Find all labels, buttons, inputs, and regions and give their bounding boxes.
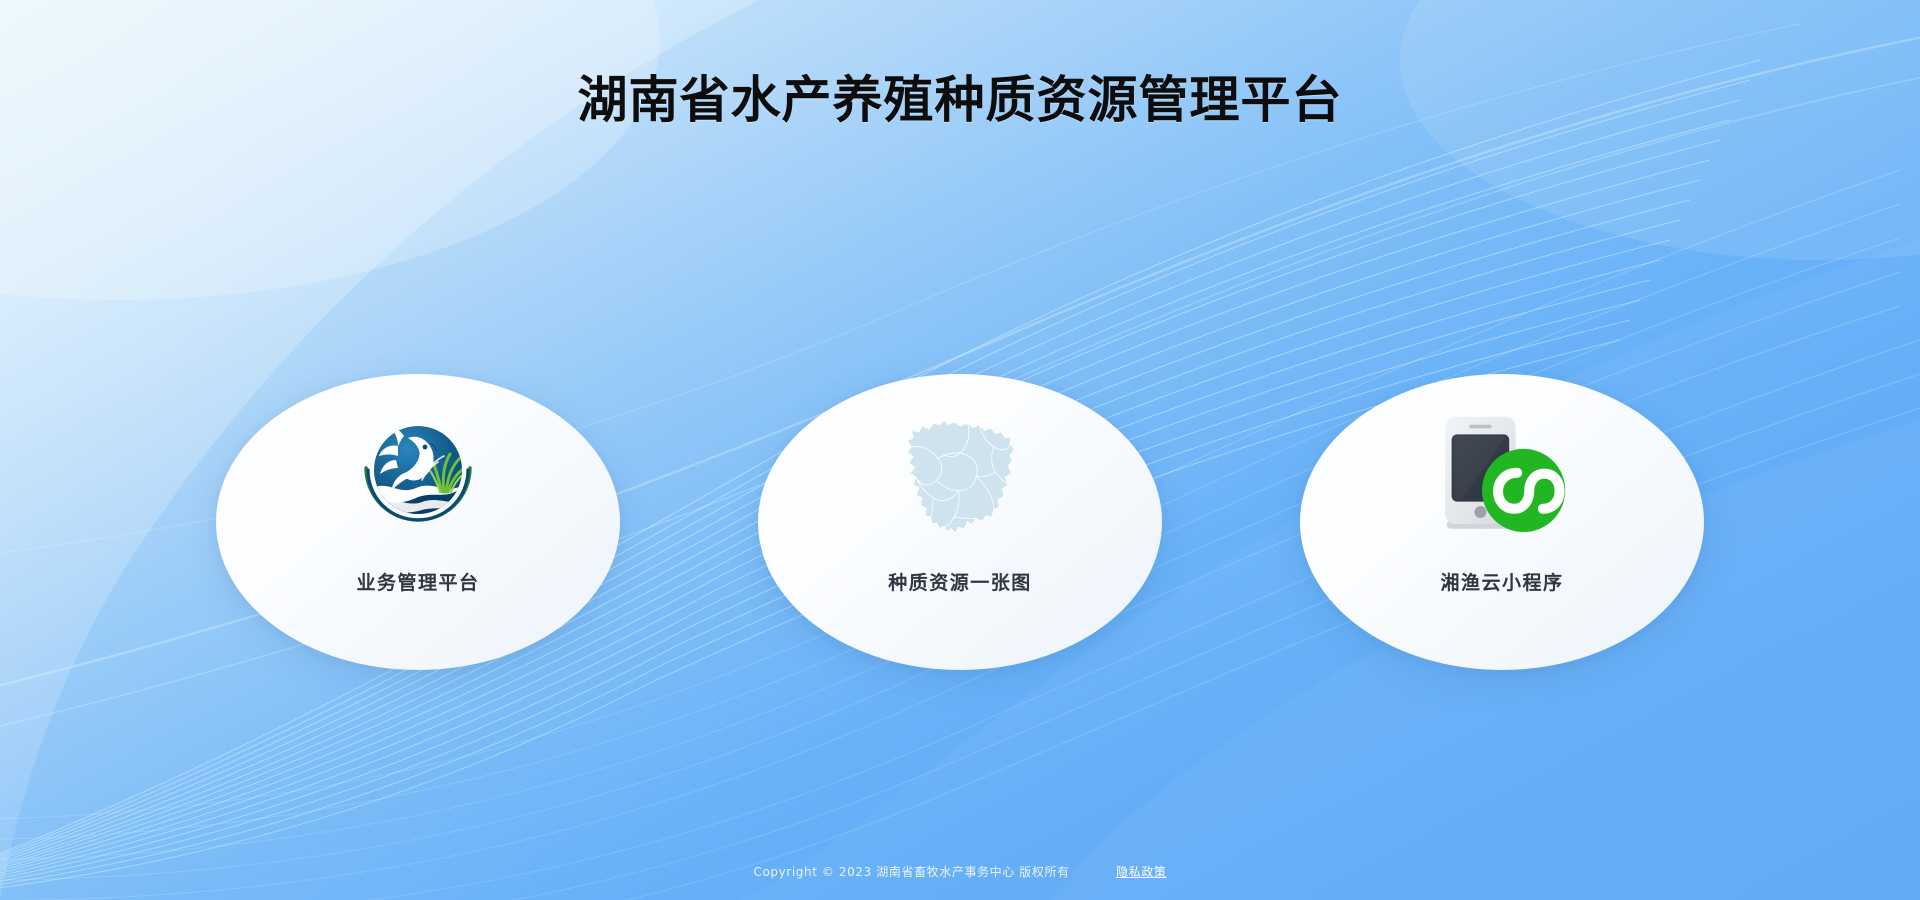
entry-card-business-platform[interactable]: 业务管理平台 xyxy=(216,374,620,670)
wechat-miniprogram-phone-icon xyxy=(1434,410,1570,542)
entry-card-group: 业务管理平台 xyxy=(0,374,1920,670)
fish-emblem-icon xyxy=(352,410,484,542)
entry-card-label: 业务管理平台 xyxy=(356,568,479,595)
entry-card-label: 湘渔云小程序 xyxy=(1440,568,1563,595)
hunan-map-svg xyxy=(894,412,1026,540)
entry-card-label: 种质资源一张图 xyxy=(888,568,1032,595)
footer-privacy-link[interactable]: 隐私政策 xyxy=(1116,865,1166,879)
footer-copyright: Copyright © 2023 湖南省畜牧水产事务中心 版权所有 xyxy=(753,865,1069,879)
fish-emblem-svg xyxy=(352,410,484,542)
entry-card-miniprogram[interactable]: 湘渔云小程序 xyxy=(1300,374,1704,670)
footer: Copyright © 2023 湖南省畜牧水产事务中心 版权所有 隐私政策 xyxy=(0,863,1920,880)
page-title-wrapper: 湖南省水产养殖种质资源管理平台 xyxy=(0,60,1920,132)
entry-card-germplasm-map[interactable]: 种质资源一张图 xyxy=(758,374,1162,670)
page-title: 湖南省水产养殖种质资源管理平台 xyxy=(578,60,1343,132)
miniprogram-phone-svg xyxy=(1434,412,1570,540)
hunan-map-icon xyxy=(894,410,1026,542)
